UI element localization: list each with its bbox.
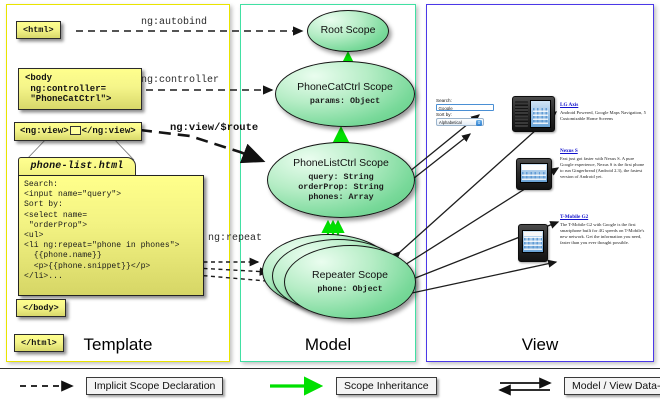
legend-label-implicit-scope: Implicit Scope Declaration	[86, 377, 223, 395]
phone-screen-header	[524, 232, 542, 236]
code-tag-html: <html>	[16, 21, 61, 39]
scope-phonelistctrl-props: query: String orderProp: String phones: …	[298, 172, 383, 202]
file-body: Search: <input name="query"> Sort by: <s…	[18, 175, 204, 296]
code-tag-ngview-close: </ng:view>	[82, 126, 136, 136]
phone-screen-detail	[530, 100, 551, 128]
list-item: T-Mobile G2 The T-Mobile G2 with Google …	[560, 214, 646, 246]
ngview-slot-icon	[70, 126, 81, 135]
scope-repeater-stack: Repeater Scope phone: Object	[262, 234, 418, 322]
phone-screen-icons	[522, 172, 546, 180]
list-item: Nexus S Fast just got faster with Nexus …	[560, 148, 646, 180]
phone-screen-icons	[533, 108, 548, 124]
dashed-arrow-icon	[18, 376, 80, 396]
scope-repeater-props: phone: Object	[317, 284, 382, 294]
scope-phonelistctrl-name: PhoneListCtrl Scope	[293, 158, 389, 170]
browser-mock: Search: Google Sort by: Alphabetical ⇕	[432, 96, 648, 296]
column-label-model: Model	[241, 335, 415, 355]
phone-screen-icons	[524, 237, 542, 250]
scope-phonecatctrl-props: params: Object	[310, 96, 380, 106]
search-label: Search:	[436, 98, 496, 104]
legend-item-scope-inheritance: Scope Inheritance	[268, 375, 437, 397]
phone-link[interactable]: T-Mobile G2	[560, 214, 646, 220]
phone-slider-keyboard-icon	[512, 96, 555, 132]
code-tag-body-close: </body>	[16, 299, 66, 317]
code-tag-ngview: <ng:view></ng:view>	[14, 122, 142, 141]
label-ng-autobind: ng:autobind	[141, 17, 207, 28]
legend-item-implicit-scope: Implicit Scope Declaration	[18, 375, 223, 397]
scope-repeater-front: Repeater Scope phone: Object	[284, 245, 416, 319]
phone-screen-detail	[522, 230, 544, 253]
chevron-updown-icon: ⇕	[476, 120, 482, 126]
file-code: Search: <input name="query"> Sort by: <s…	[24, 180, 198, 282]
phone-link[interactable]: Nexus S	[560, 148, 646, 154]
legend-label-data-binding: Model / View Data-binding	[564, 377, 660, 395]
phone-keyboard-detail	[515, 101, 528, 127]
search-input[interactable]: Google	[436, 104, 494, 111]
legend: Implicit Scope Declaration Scope Inherit…	[0, 368, 660, 406]
green-arrow-icon	[268, 376, 330, 396]
code-tag-html-close: </html>	[14, 334, 64, 352]
phone-snippet: Fast just got faster with Nexus S. A pur…	[560, 156, 646, 180]
label-ng-repeat: ng:repeat	[208, 233, 262, 244]
legend-item-data-binding: Model / View Data-binding	[496, 375, 660, 397]
phone-image-lg-axis	[512, 96, 555, 132]
diagram-root: Template Model View	[0, 0, 660, 405]
double-arrow-icon	[496, 376, 558, 396]
phone-snippet: Android Powered, Google Maps Navigation,…	[560, 110, 646, 122]
phone-screen-detail	[520, 163, 548, 183]
scope-phonelistctrl: PhoneListCtrl Scope query: String orderP…	[267, 142, 415, 218]
phone-snippet: The T-Mobile G2 with Google is the first…	[560, 222, 646, 246]
search-form: Search: Google Sort by: Alphabetical ⇕	[436, 98, 496, 126]
label-ng-view-route: ng:view/$route	[170, 122, 258, 134]
file-callout-phone-list: phone-list.html Search: <input name="que…	[18, 157, 204, 296]
scope-phonecatctrl-name: PhoneCatCtrl Scope	[297, 82, 393, 94]
scope-phonecatctrl: PhoneCatCtrl Scope params: Object	[275, 61, 415, 127]
scope-root: Root Scope	[307, 10, 389, 52]
list-item: LG Axis Android Powered, Google Maps Nav…	[560, 102, 646, 122]
sort-select-value: Alphabetical	[439, 120, 462, 125]
code-tag-ngview-open: <ng:view>	[20, 126, 69, 136]
phone-candybar-icon	[516, 158, 552, 190]
sort-label: Sort by:	[436, 112, 496, 118]
column-label-view: View	[427, 335, 653, 355]
file-title: phone-list.html	[18, 157, 136, 176]
phone-link[interactable]: LG Axis	[560, 102, 646, 108]
phone-image-t-mobile-g2	[518, 224, 548, 262]
phone-image-nexus-s	[516, 158, 552, 190]
sort-select[interactable]: Alphabetical ⇕	[436, 118, 484, 126]
phone-tall-icon	[518, 224, 548, 262]
legend-label-scope-inheritance: Scope Inheritance	[336, 377, 437, 395]
scope-repeater-name: Repeater Scope	[312, 270, 388, 282]
phone-screen-header	[522, 165, 546, 170]
scope-root-name: Root Scope	[321, 25, 376, 37]
label-ng-controller: ng:controller	[141, 75, 219, 86]
code-tag-body: <body ng:controller= "PhoneCatCtrl">	[18, 68, 142, 110]
